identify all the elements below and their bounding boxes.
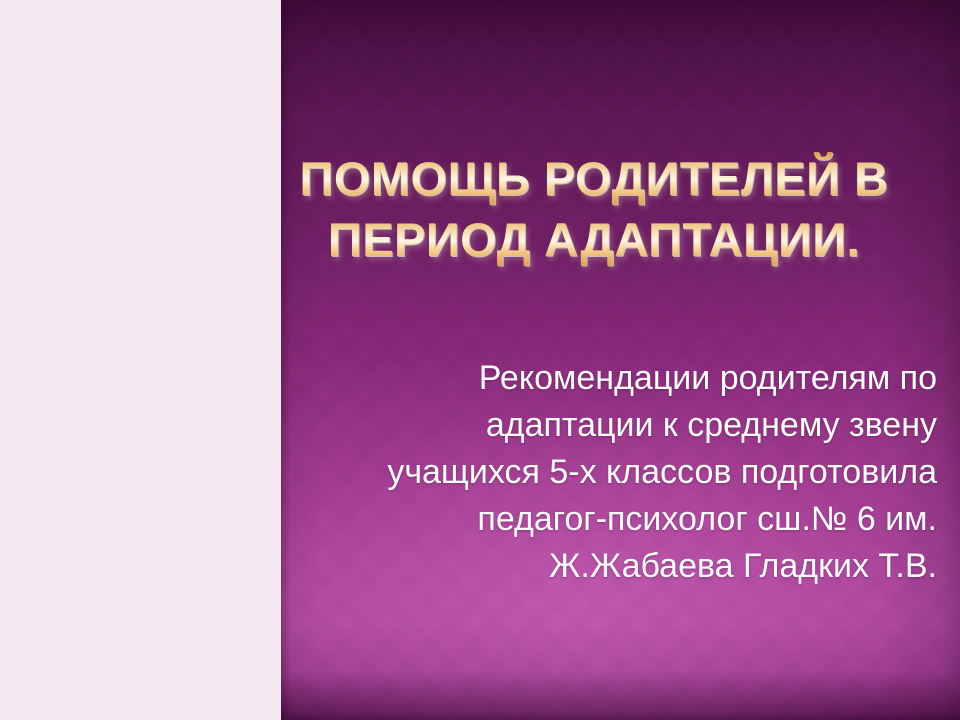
subtitle-line-5: Ж.Жабаева Гладких Т.В. bbox=[300, 543, 937, 590]
subtitle-line-1: Рекомендации родителям по bbox=[300, 355, 937, 402]
presentation-slide: ПОМОЩЬ РОДИТЕЛЕЙ В ПЕРИОД АДАПТАЦИИ. Рек… bbox=[0, 0, 960, 720]
title-line-1: ПОМОЩЬ РОДИТЕЛЕЙ В bbox=[258, 148, 930, 209]
slide-title: ПОМОЩЬ РОДИТЕЛЕЙ В ПЕРИОД АДАПТАЦИИ. bbox=[258, 148, 930, 270]
title-line-2: ПЕРИОД АДАПТАЦИИ. bbox=[258, 209, 930, 270]
subtitle-line-3: учащихся 5-х классов подготовила bbox=[300, 449, 937, 496]
left-accent-panel bbox=[0, 0, 281, 720]
slide-subtitle: Рекомендации родителям по адаптации к ср… bbox=[300, 355, 937, 590]
subtitle-line-2: адаптации к среднему звену bbox=[300, 402, 937, 449]
subtitle-line-4: педагог-психолог сш.№ 6 им. bbox=[300, 496, 937, 543]
